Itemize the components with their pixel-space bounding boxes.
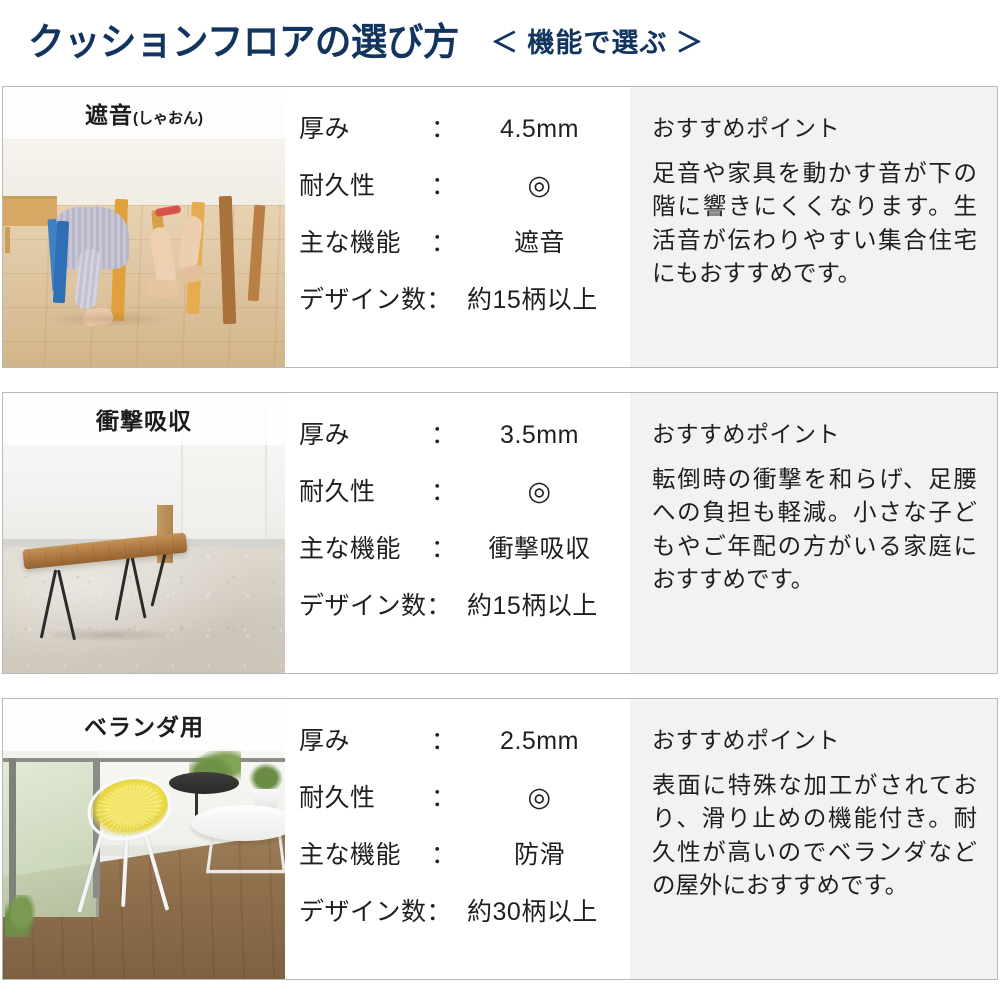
photo-bench-shadow: [33, 628, 183, 642]
card-recommend-panel: おすすめポイント 転倒時の衝撃を和らげ、足腰への負担も軽減。小さな子どもやご年配…: [630, 393, 997, 673]
spec-row-design-count: デザイン数： 約15柄以上: [299, 586, 618, 643]
spec-value-thickness: 4.5mm: [461, 115, 618, 144]
recommend-body: 足音や家具を動かす音が下の階に響きにくくなります。生活音が伝わりやすい集合住宅に…: [652, 157, 977, 290]
comparison-card[interactable]: ベランダ用 厚み ： 2.5mm 耐久性 ： ◎ 主な機能 ：: [2, 698, 998, 980]
spec-label-design-count: デザイン数：: [299, 892, 467, 928]
spec-row-thickness: 厚み ： 4.5mm: [299, 109, 618, 166]
card-category-text: ベランダ用: [84, 714, 204, 740]
card-spec-list: 厚み ： 4.5mm 耐久性 ： ◎ 主な機能 ： 遮音 デザイン数： 約15柄…: [285, 87, 630, 367]
comparison-card[interactable]: 遮音(しゃおん) 厚み ： 4.5mm 耐久性 ： ◎ 主な機能 ：: [2, 86, 998, 368]
photo-dark-round-table: [169, 772, 239, 794]
page-title: クッションフロアの選び方: [28, 24, 459, 62]
spec-label-durability: 耐久性: [299, 166, 431, 202]
spec-colon: ：: [431, 415, 461, 451]
spec-value-durability: ◎: [461, 476, 618, 507]
card-category-text: 遮音: [85, 102, 133, 128]
spec-value-design-count: 約15柄以上: [467, 280, 618, 316]
spec-colon: ：: [431, 109, 461, 145]
card-category-label: ベランダ用: [84, 708, 204, 742]
infographic-page: クッションフロアの選び方 ＜ 機能で選ぶ ＞: [0, 0, 1000, 1000]
comparison-card[interactable]: 衝撃吸収 厚み ： 3.5mm 耐久性 ： ◎ 主な機能 ：: [2, 392, 998, 674]
spec-row-thickness: 厚み ： 3.5mm: [299, 415, 618, 472]
spec-value-thickness: 2.5mm: [461, 727, 618, 756]
card-spec-list: 厚み ： 2.5mm 耐久性 ： ◎ 主な機能 ： 防滑 デザイン数： 約30柄…: [285, 699, 630, 979]
spec-colon: ：: [431, 166, 461, 202]
recommend-heading: おすすめポイント: [652, 415, 977, 449]
spec-row-thickness: 厚み ： 2.5mm: [299, 721, 618, 778]
photo-railing-post-1: [9, 758, 16, 915]
photo-label-band: 遮音(しゃおん): [3, 87, 285, 139]
spec-value-function: 防滑: [461, 835, 618, 871]
spec-value-durability: ◎: [461, 170, 618, 201]
card-photo: 衝撃吸収: [3, 393, 285, 673]
card-photo: ベランダ用: [3, 699, 285, 979]
spec-label-design-count: デザイン数：: [299, 586, 467, 622]
card-category-label: 遮音(しゃおん): [85, 96, 203, 130]
spec-colon: ：: [431, 778, 461, 814]
photo-plant-left: [5, 895, 39, 937]
recommend-body: 表面に特殊な加工がされており、滑り止めの機能付き。耐久性が高いのでベランダなどの…: [652, 769, 977, 902]
card-recommend-panel: おすすめポイント 表面に特殊な加工がされており、滑り止めの機能付き。耐久性が高い…: [630, 699, 997, 979]
spec-value-design-count: 約15柄以上: [467, 586, 618, 622]
card-photo: 遮音(しゃおん): [3, 87, 285, 367]
spec-colon: ：: [431, 835, 461, 871]
comparison-card-list: 遮音(しゃおん) 厚み ： 4.5mm 耐久性 ： ◎ 主な機能 ：: [0, 86, 1000, 980]
spec-colon: ：: [431, 472, 461, 508]
spec-colon: ：: [431, 223, 461, 259]
spec-value-function: 遮音: [461, 223, 618, 259]
spec-value-function: 衝撃吸収: [461, 529, 618, 565]
card-spec-list: 厚み ： 3.5mm 耐久性 ： ◎ 主な機能 ： 衝撃吸収 デザイン数： 約1…: [285, 393, 630, 673]
spec-row-durability: 耐久性 ： ◎: [299, 778, 618, 835]
spec-colon: ：: [431, 529, 461, 565]
spec-label-function: 主な機能: [299, 223, 431, 259]
spec-label-durability: 耐久性: [299, 778, 431, 814]
photo-railing-bar: [3, 758, 285, 762]
spec-colon: ：: [431, 721, 461, 757]
spec-label-design-count: デザイン数：: [299, 280, 467, 316]
photo-wood-floor: [3, 205, 285, 367]
recommend-heading: おすすめポイント: [652, 721, 977, 755]
spec-row-design-count: デザイン数： 約15柄以上: [299, 280, 618, 337]
spec-label-function: 主な機能: [299, 835, 431, 871]
card-category-furigana: (しゃおん): [133, 110, 203, 127]
spec-value-durability: ◎: [461, 782, 618, 813]
spec-row-durability: 耐久性 ： ◎: [299, 472, 618, 529]
photo-label-band: ベランダ用: [3, 699, 285, 751]
spec-label-thickness: 厚み: [299, 415, 431, 451]
recommend-body: 転倒時の衝撃を和らげ、足腰への負担も軽減。小さな子どもやご年配の方がいる家庭にお…: [652, 463, 977, 596]
page-subtitle: ＜ 機能で選ぶ ＞: [491, 30, 704, 57]
spec-label-thickness: 厚み: [299, 109, 431, 145]
spec-row-function: 主な機能 ： 衝撃吸収: [299, 529, 618, 586]
spec-label-thickness: 厚み: [299, 721, 431, 757]
card-category-text: 衝撃吸収: [96, 408, 192, 434]
spec-value-design-count: 約30柄以上: [467, 892, 618, 928]
page-header: クッションフロアの選び方 ＜ 機能で選ぶ ＞: [0, 0, 1000, 86]
spec-label-durability: 耐久性: [299, 472, 431, 508]
photo-floor-shadow: [43, 311, 173, 327]
spec-row-design-count: デザイン数： 約30柄以上: [299, 892, 618, 949]
photo-label-band: 衝撃吸収: [3, 393, 285, 445]
card-category-label: 衝撃吸収: [96, 402, 192, 436]
spec-row-function: 主な機能 ： 防滑: [299, 835, 618, 892]
spec-value-thickness: 3.5mm: [461, 421, 618, 450]
spec-label-function: 主な機能: [299, 529, 431, 565]
recommend-heading: おすすめポイント: [652, 109, 977, 143]
spec-row-function: 主な機能 ： 遮音: [299, 223, 618, 280]
card-recommend-panel: おすすめポイント 足音や家具を動かす音が下の階に響きにくくなります。生活音が伝わ…: [630, 87, 997, 367]
spec-row-durability: 耐久性 ： ◎: [299, 166, 618, 223]
